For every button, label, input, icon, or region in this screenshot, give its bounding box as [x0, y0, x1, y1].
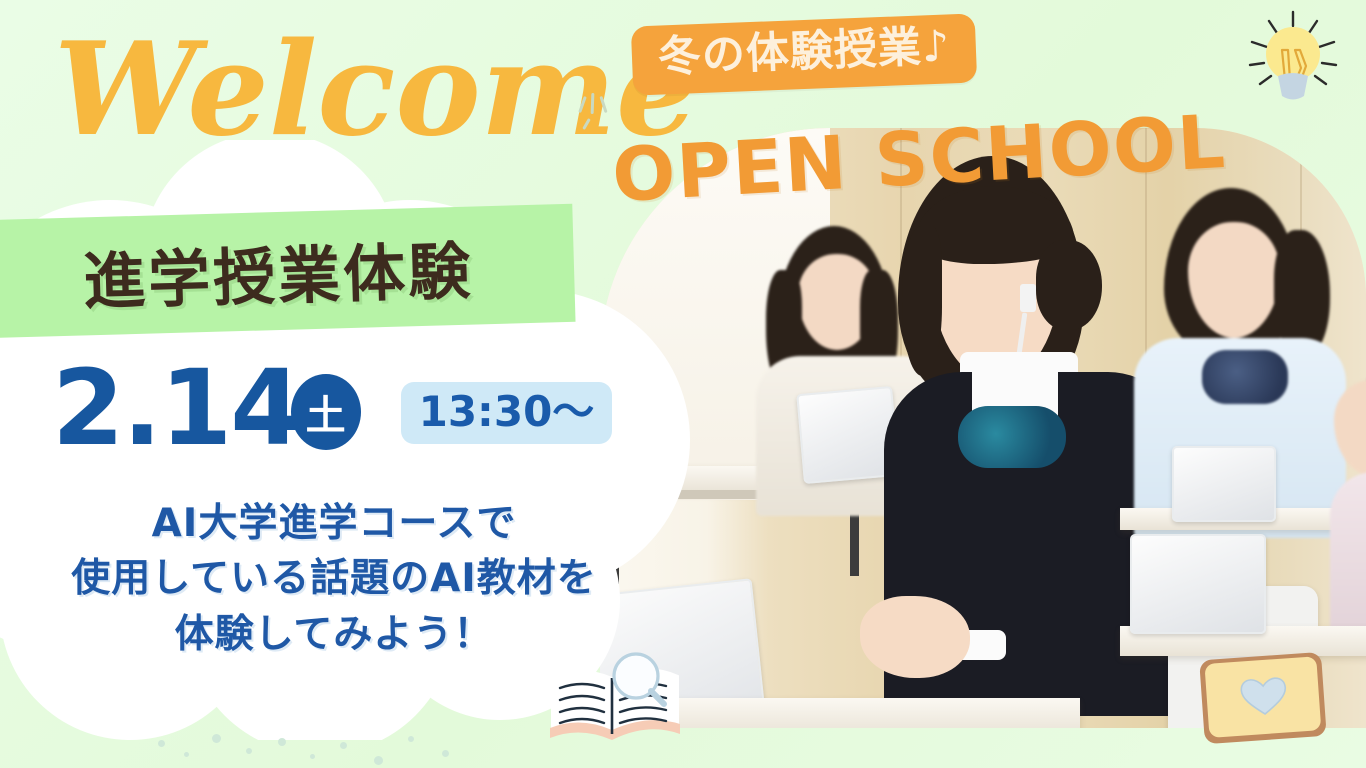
- decorative-dots: [150, 726, 480, 768]
- torso: [1330, 472, 1366, 642]
- event-description: AI大学進学コースで 使用している話題のAI教材を 体験してみよう！: [24, 496, 644, 662]
- event-time-badge: 13:30〜: [401, 382, 613, 444]
- season-badge-label: 冬の体験授業♪: [657, 21, 951, 83]
- course-banner: 進学授業体験: [0, 204, 576, 338]
- tablet: [1172, 446, 1276, 522]
- season-badge[interactable]: 冬の体験授業♪: [631, 13, 978, 95]
- classroom-photo: [600, 128, 1366, 728]
- tablet: [1130, 534, 1266, 634]
- lightbulb-icon: [1238, 8, 1348, 113]
- ribbon: [958, 406, 1066, 468]
- earphone: [1020, 284, 1036, 312]
- open-book-magnifier-icon: [540, 644, 690, 752]
- event-date-row: 2.14 土 13:30〜: [52, 356, 612, 460]
- sparkle-icon: [575, 92, 615, 132]
- photo-image: [600, 128, 1366, 728]
- poster-canvas: Welcome 冬の体験授業♪ OPEN SCHOOL 進学授業: [0, 0, 1366, 768]
- course-banner-label: 進学授業体験: [82, 221, 474, 322]
- student-far-right: [1340, 344, 1366, 624]
- welcome-text: Welcome: [54, 15, 698, 165]
- hair-bun: [1036, 240, 1102, 330]
- event-date: 2.14: [52, 356, 301, 460]
- welcome-script-title: Welcome: [48, 24, 608, 164]
- description-line-1: AI大学進学コースで: [24, 496, 644, 551]
- hand: [860, 596, 970, 678]
- heart-card-icon: [1196, 648, 1332, 750]
- description-line-2: 使用している話題のAI教材を: [24, 551, 644, 606]
- hair-side-left: [902, 226, 942, 376]
- day-of-week-badge: 土: [291, 374, 361, 450]
- ribbon: [1202, 350, 1288, 404]
